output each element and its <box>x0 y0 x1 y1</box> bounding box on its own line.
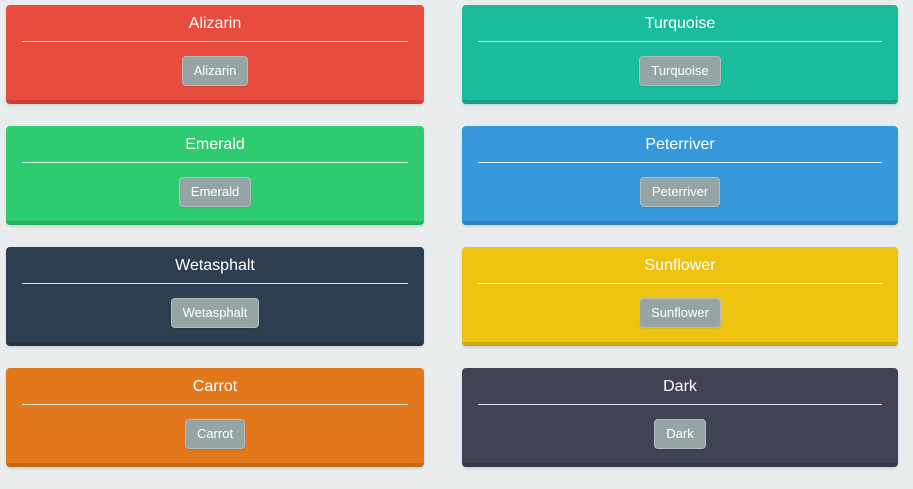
panel-column-right: Sunflower Sunflower <box>452 247 898 368</box>
panel-title: Turquoise <box>478 13 882 34</box>
panel-body: Wetasphalt <box>22 284 408 328</box>
panel-body: Turquoise <box>478 42 882 86</box>
panel-title: Emerald <box>22 134 408 155</box>
panel-emerald[interactable]: Emerald Emerald <box>6 126 424 225</box>
panel-body: Emerald <box>22 163 408 207</box>
panel-body: Alizarin <box>22 42 408 86</box>
panel-body: Dark <box>478 405 882 449</box>
panel-button-turquoise[interactable]: Turquoise <box>639 56 720 86</box>
panel-column-right: Turquoise Turquoise <box>452 5 898 126</box>
panel-title: Carrot <box>22 376 408 397</box>
panel-button-alizarin[interactable]: Alizarin <box>182 56 249 86</box>
panel-button-carrot[interactable]: Carrot <box>185 419 245 449</box>
panel-body: Carrot <box>22 405 408 449</box>
panel-column-left: Emerald Emerald <box>6 126 452 247</box>
panel-column-left: Carrot Carrot <box>6 368 452 489</box>
panel-column-left: Alizarin Alizarin <box>6 5 452 126</box>
panel-column-right: Dark Dark <box>452 368 898 489</box>
panel-button-peterriver[interactable]: Peterriver <box>640 177 720 207</box>
panel-button-wetasphalt[interactable]: Wetasphalt <box>171 298 260 328</box>
panel-title: Dark <box>478 376 882 397</box>
panel-carrot[interactable]: Carrot Carrot <box>6 368 424 467</box>
panel-title: Alizarin <box>22 13 408 34</box>
panel-title: Wetasphalt <box>22 255 408 276</box>
panel-body: Peterriver <box>478 163 882 207</box>
panel-turquoise[interactable]: Turquoise Turquoise <box>462 5 898 104</box>
panel-alizarin[interactable]: Alizarin Alizarin <box>6 5 424 104</box>
panel-wetasphalt[interactable]: Wetasphalt Wetasphalt <box>6 247 424 346</box>
panel-column-right: Peterriver Peterriver <box>452 126 898 247</box>
panel-button-sunflower[interactable]: Sunflower <box>639 298 721 328</box>
panel-button-dark[interactable]: Dark <box>654 419 705 449</box>
panel-title: Sunflower <box>478 255 882 276</box>
panel-body: Sunflower <box>478 284 882 328</box>
panel-dark[interactable]: Dark Dark <box>462 368 898 467</box>
panel-grid: Alizarin Alizarin Turquoise Turquoise Em… <box>0 0 913 489</box>
panel-column-left: Wetasphalt Wetasphalt <box>6 247 452 368</box>
panel-peterriver[interactable]: Peterriver Peterriver <box>462 126 898 225</box>
panel-button-emerald[interactable]: Emerald <box>179 177 251 207</box>
panel-title: Peterriver <box>478 134 882 155</box>
panel-sunflower[interactable]: Sunflower Sunflower <box>462 247 898 346</box>
